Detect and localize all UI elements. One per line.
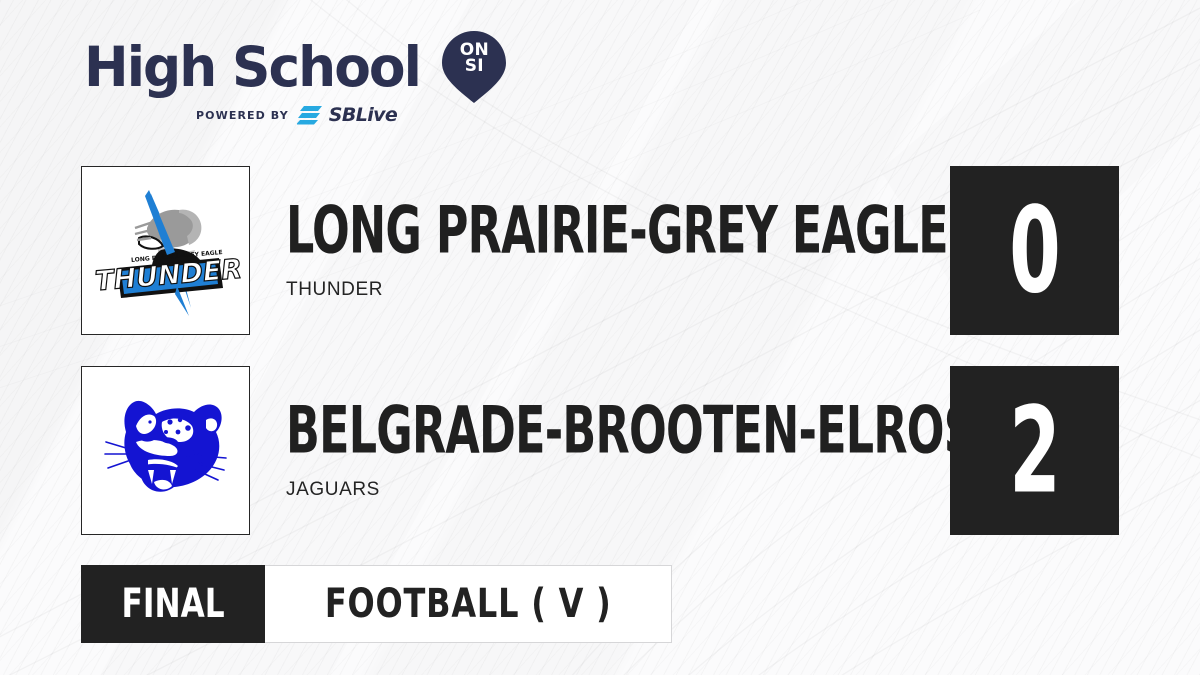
game-status-bar: FINAL FOOTBALL ( V ) [81, 565, 672, 643]
status-badge: FINAL [81, 565, 265, 643]
badge-text-si: SI [442, 58, 506, 74]
status-badge-label: FINAL [122, 584, 225, 624]
team-row: BELGRADE-BROOTEN-ELROSA JAGUARS 2 [81, 366, 1119, 535]
team-logo-box [81, 366, 250, 535]
powered-by-label: POWERED BY [196, 109, 289, 122]
map-pin-icon: ON SI [442, 30, 506, 104]
thunder-zeus-logo: THUNDER LONG PRAIRIE-GREY EAGLE [91, 176, 241, 326]
team-row: THUNDER LONG PRAIRIE-GREY EAGLE LONG PRA… [81, 166, 1119, 335]
team-name: BELGRADE-BROOTEN-ELROSA [286, 398, 1009, 463]
scoreboard-graphic: High School ON SI POWERED BY SBLive [0, 0, 1200, 675]
page-title: High School [84, 38, 420, 96]
team-name: LONG PRAIRIE-GREY EAGLE [286, 198, 948, 263]
team-score-box: 2 [950, 366, 1119, 535]
team-score-box: 0 [950, 166, 1119, 335]
sport-label-box: FOOTBALL ( V ) [265, 565, 672, 643]
team-logo-box: THUNDER LONG PRAIRIE-GREY EAGLE [81, 166, 250, 335]
team-score: 2 [1009, 391, 1060, 510]
powered-by-row: POWERED BY SBLive [196, 104, 514, 126]
sblive-s-mark-icon [297, 105, 323, 125]
brand-header: High School ON SI POWERED BY SBLive [84, 36, 514, 136]
jaguar-head-logo [96, 386, 236, 516]
team-score: 0 [1009, 191, 1060, 310]
partner-name: SBLive [329, 104, 397, 126]
sport-label: FOOTBALL ( V ) [325, 584, 612, 624]
